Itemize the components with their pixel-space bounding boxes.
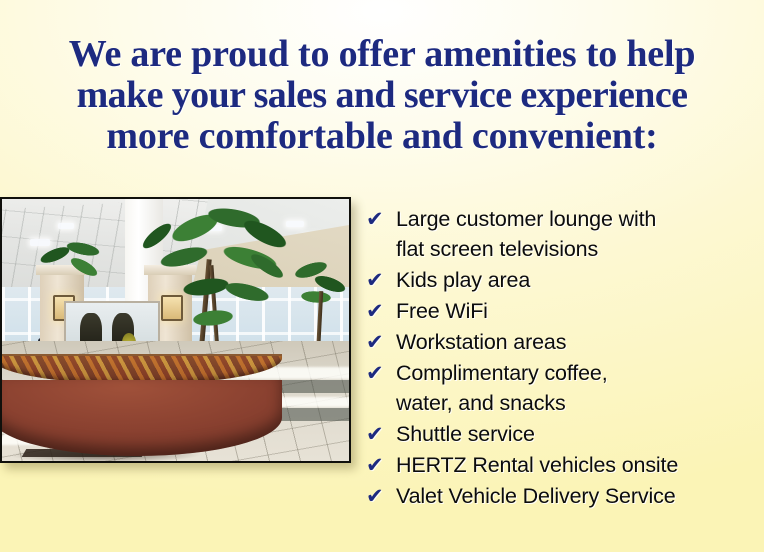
check-icon: ✔ [366, 296, 396, 326]
list-item: ✔ Workstation areas [366, 327, 764, 357]
list-item-label: Valet Vehicle Delivery Service [396, 481, 676, 511]
list-item: ✔ Shuttle service [366, 419, 764, 449]
showroom-lobby-photo-content [2, 199, 349, 461]
list-item: ✔ HERTZ Rental vehicles onsite [366, 450, 764, 480]
list-item-label: Complimentary coffee, water, and snacks [396, 358, 608, 418]
page-title: We are proud to offer amenities to help … [0, 34, 764, 157]
check-icon: ✔ [366, 204, 396, 234]
list-item-label: Kids play area [396, 265, 530, 295]
list-item-label: Large customer lounge with flat screen t… [396, 204, 656, 264]
check-icon: ✔ [366, 450, 396, 480]
ceiling-light-2 [58, 223, 74, 229]
ceiling-light-5 [286, 221, 304, 227]
check-icon: ✔ [366, 327, 396, 357]
list-item-label: Workstation areas [396, 327, 566, 357]
showroom-lobby-photo [0, 197, 351, 463]
list-item: ✔ Valet Vehicle Delivery Service [366, 481, 764, 511]
check-icon: ✔ [366, 265, 396, 295]
check-icon: ✔ [366, 419, 396, 449]
slide-root: We are proud to offer amenities to help … [0, 0, 764, 552]
list-item: ✔ Kids play area [366, 265, 764, 295]
page-title-line-3: more comfortable and convenient: [0, 116, 764, 157]
list-item: ✔ Complimentary coffee, water, and snack… [366, 358, 764, 418]
check-icon: ✔ [366, 481, 396, 511]
check-icon: ✔ [366, 358, 396, 388]
amenities-list: ✔ Large customer lounge with flat screen… [366, 204, 764, 512]
page-title-line-1: We are proud to offer amenities to help [0, 34, 764, 75]
page-title-line-2: make your sales and service experience [0, 75, 764, 116]
list-item: ✔ Free WiFi [366, 296, 764, 326]
list-item-label: Shuttle service [396, 419, 535, 449]
list-item-label: Free WiFi [396, 296, 488, 326]
list-item-label: HERTZ Rental vehicles onsite [396, 450, 678, 480]
ceiling-light-1 [30, 239, 50, 246]
list-item: ✔ Large customer lounge with flat screen… [366, 204, 764, 264]
